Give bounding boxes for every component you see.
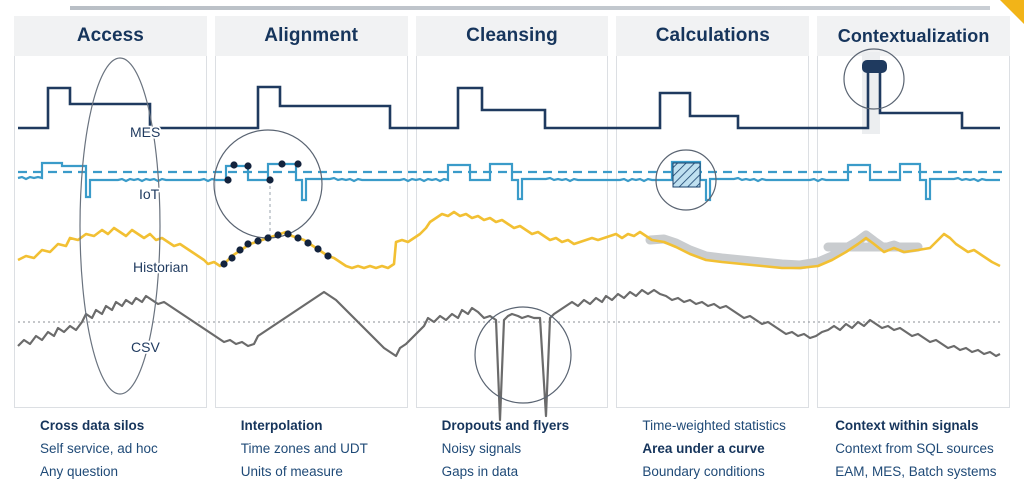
stage-bullets-alignment: Interpolation Time zones and UDT Units o… xyxy=(215,408,408,482)
stage-access[interactable]: Access Cross data silos Self service, ad… xyxy=(14,16,207,482)
stage-bullets-cleansing: Dropouts and flyers Noisy signals Gaps i… xyxy=(416,408,609,482)
bullet-item: Area under a curve xyxy=(642,437,809,460)
stage-header-contextualization: Contextualization xyxy=(817,16,1010,56)
stage-title: Calculations xyxy=(656,25,770,47)
stage-cleansing[interactable]: Cleansing Dropouts and flyers Noisy sign… xyxy=(416,16,609,482)
stage-bullets-calculations: Time-weighted statistics Area under a cu… xyxy=(616,408,809,482)
stage-header-calculations: Calculations xyxy=(616,16,809,56)
bullet-item: Noisy signals xyxy=(442,437,609,460)
stage-bullets-access: Cross data silos Self service, ad hoc An… xyxy=(14,408,207,482)
stage-title: Access xyxy=(77,25,144,47)
bullet-item: EAM, MES, Batch systems xyxy=(835,460,1010,483)
stage-chart-panel-calculations xyxy=(616,56,809,408)
stage-chart-panel-contextualization xyxy=(817,56,1010,408)
stage-grid: Access Cross data silos Self service, ad… xyxy=(14,16,1010,482)
bullet-item: Context within signals xyxy=(835,414,1010,437)
stage-chart-panel-cleansing xyxy=(416,56,609,408)
bullet-item: Gaps in data xyxy=(442,460,609,483)
stage-header-cleansing: Cleansing xyxy=(416,16,609,56)
bullet-item: Dropouts and flyers xyxy=(442,414,609,437)
stage-chart-panel-access xyxy=(14,56,207,408)
bullet-item: Context from SQL sources xyxy=(835,437,1010,460)
stage-chart-panel-alignment xyxy=(215,56,408,408)
stage-title: Cleansing xyxy=(466,25,558,47)
bullet-item: Time zones and UDT xyxy=(241,437,408,460)
stage-title: Contextualization xyxy=(838,26,990,47)
stage-contextualization[interactable]: Contextualization Context within signals… xyxy=(817,16,1010,482)
bullet-item: Boundary conditions xyxy=(642,460,809,483)
bullet-item: Self service, ad hoc xyxy=(40,437,207,460)
stage-title: Alignment xyxy=(264,25,358,47)
bullet-item: Time-weighted statistics xyxy=(642,414,809,437)
stage-header-alignment: Alignment xyxy=(215,16,408,56)
stage-header-access: Access xyxy=(14,16,207,56)
bullet-item: Cross data silos xyxy=(40,414,207,437)
stage-bullets-contextualization: Context within signals Context from SQL … xyxy=(817,408,1010,482)
bullet-item: Any question xyxy=(40,460,207,483)
top-rule xyxy=(70,6,990,10)
stage-alignment[interactable]: Alignment Interpolation Time zones and U… xyxy=(215,16,408,482)
stage-calculations[interactable]: Calculations Time-weighted statistics Ar… xyxy=(616,16,809,482)
bullet-item: Units of measure xyxy=(241,460,408,483)
bullet-item: Interpolation xyxy=(241,414,408,437)
